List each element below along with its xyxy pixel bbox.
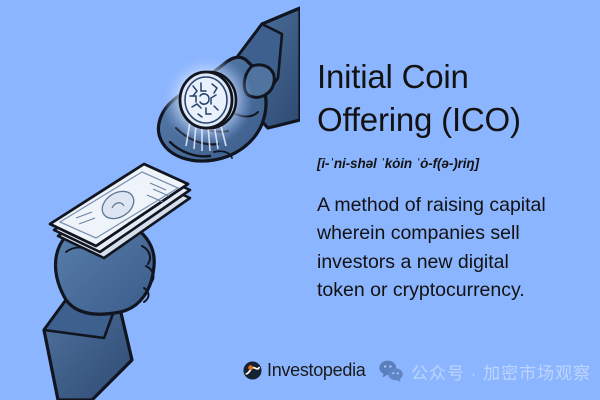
- page-title: Initial CoinOffering (ICO): [317, 56, 585, 142]
- title-line-2: Offering (ICO): [317, 101, 521, 138]
- definition-line-2: wherein companies sell: [317, 222, 520, 244]
- definition-text: A method of raising capitalwherein compa…: [317, 191, 585, 305]
- wechat-account-label: 公众号 · 加密市场观察: [411, 359, 591, 384]
- wechat-icon: [378, 358, 404, 384]
- definition-card: Initial CoinOffering (ICO) [i-ˈni-shəl ˈ…: [0, 0, 600, 400]
- footer-bar: Investopedia: [0, 354, 600, 400]
- wechat-account-credit: 公众号 · 加密市场观察: [378, 358, 591, 384]
- title-line-1: Initial Coin: [317, 58, 469, 95]
- investopedia-wordmark: Investopedia: [267, 360, 365, 381]
- term-text-column: Initial CoinOffering (ICO) [i-ˈni-shəl ˈ…: [317, 56, 585, 305]
- pronunciation-text: [i-ˈni-shəl ˈkȯin ˈȯ-f(ə-)riŋ]: [317, 156, 585, 171]
- investopedia-brand: Investopedia: [243, 360, 365, 381]
- illustration-hands-exchange: [0, 0, 300, 400]
- investopedia-logo-icon: [243, 361, 262, 380]
- definition-line-1: A method of raising capital: [317, 194, 546, 216]
- definition-line-4: token or cryptocurrency.: [317, 279, 525, 301]
- definition-line-3: investors a new digital: [317, 251, 509, 273]
